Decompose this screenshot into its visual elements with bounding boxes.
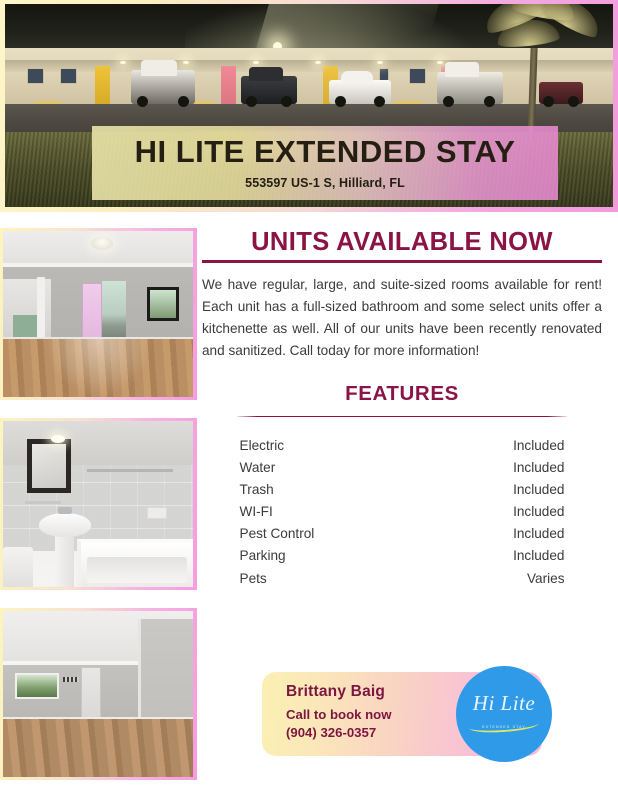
vehicle-suv [241,76,297,104]
features-divider [237,416,567,417]
ceiling-light-icon [91,237,113,250]
feature-name: Trash [240,478,433,500]
feature-value: Included [432,545,564,567]
photo-column [0,228,197,798]
feature-value: Included [432,523,564,545]
walkway-light-icon [437,61,443,64]
motel-door-yellow [95,66,110,104]
logo-mark: Hi Lite EXTENDED STAY [467,692,541,736]
units-heading: UNITS AVAILABLE NOW [202,228,602,257]
pink-door [82,283,102,345]
window [15,673,59,699]
motel-window [60,68,77,84]
motel-exterior-photo: HI LITE EXTENDED STAY 553597 US-1 S, Hil… [5,4,613,207]
room-with-window-photo [3,611,193,777]
walkway-light-icon [183,61,189,64]
table-row: Water Included [240,456,565,478]
feature-name: Electric [240,434,433,456]
walkway-light-icon [315,61,321,64]
wood-floor [3,719,193,777]
walkway-light-icon [120,61,126,64]
vehicle-truck [131,70,195,104]
title-plate: HI LITE EXTENDED STAY 553597 US-1 S, Hil… [92,126,558,200]
window [147,287,179,321]
feature-value: Included [432,478,564,500]
main-content: UNITS AVAILABLE NOW We have regular, lar… [202,228,602,589]
feature-name: Water [240,456,433,478]
walkway-light-icon [253,61,259,64]
room-with-pink-door-photo [3,231,193,397]
table-row: WI-FI Included [240,500,565,522]
features-table: Electric Included Water Included Trash I… [240,434,565,589]
table-row: Pets Varies [240,567,565,589]
contact-card: Brittany Baig Call to book now (904) 326… [262,672,542,756]
wall-vent [63,677,79,682]
open-doorway [102,281,126,345]
table-row: Electric Included [240,434,565,456]
motel-window [409,68,426,84]
photo-frame-1 [0,228,197,400]
walkway-light-icon [377,61,383,64]
features-heading: FEATURES [202,382,602,406]
feature-name: Parking [240,545,433,567]
units-heading-underline [202,260,602,263]
feature-value: Varies [432,567,564,589]
feature-value: Included [432,500,564,522]
hi-lite-logo: Hi Lite EXTENDED STAY [456,666,552,762]
units-description: We have regular, large, and suite-sized … [202,274,602,363]
feature-name: Pets [240,567,433,589]
floor-highlight [43,339,153,397]
photo-frame-2 [0,418,197,590]
photo-frame-3 [0,608,197,780]
motel-address: 553597 US-1 S, Hilliard, FL [245,176,405,190]
table-row: Parking Included [240,545,565,567]
motel-window [27,68,44,84]
feature-value: Included [432,434,564,456]
logo-tagline: EXTENDED STAY [467,725,541,729]
flyer-page: HI LITE EXTENDED STAY 553597 US-1 S, Hil… [0,0,618,800]
vanity-light-icon [51,435,65,443]
table-row: Pest Control Included [240,523,565,545]
logo-wordmark: Hi Lite [467,693,541,714]
feature-value: Included [432,456,564,478]
bathroom-photo [3,421,193,587]
framed-mirror [27,439,71,493]
toilet [3,547,33,587]
vehicle-pickup [437,72,503,104]
faucet-icon [58,507,72,514]
vehicle-sedan [329,80,391,104]
bathtub-basin [87,557,187,583]
pedestal-sink [39,513,91,537]
shower-rod [87,469,173,472]
soap-dish [147,507,167,519]
towel-bar [25,501,61,504]
feature-name: WI-FI [240,500,433,522]
table-row: Trash Included [240,478,565,500]
motel-door-pink [221,66,236,104]
header-banner: HI LITE EXTENDED STAY 553597 US-1 S, Hil… [0,0,618,212]
vehicle-car [539,82,583,104]
sink-pedestal [55,534,74,587]
feature-name: Pest Control [240,523,433,545]
motel-title: HI LITE EXTENDED STAY [135,136,516,167]
